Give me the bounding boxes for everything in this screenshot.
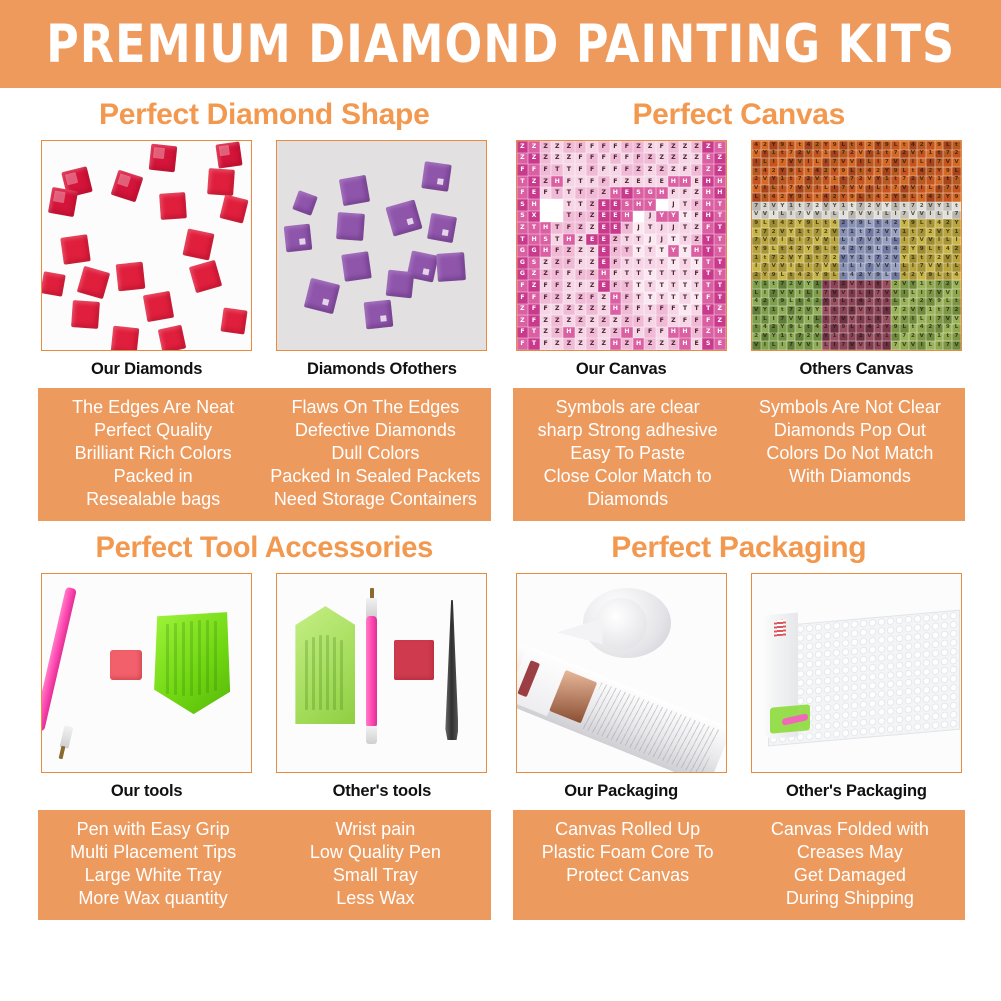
canvas-symbol-cell: I bbox=[633, 211, 645, 223]
canvas-symbol-cell: T bbox=[679, 211, 691, 223]
canvas-symbol-cell: Z bbox=[656, 153, 668, 165]
canvas-symbol-cell: 7 bbox=[874, 254, 883, 263]
caption-our-packaging: Our Packaging bbox=[564, 782, 678, 801]
canvas-symbol-cell: Y bbox=[943, 228, 952, 237]
canvas-symbol-cell: H bbox=[610, 292, 622, 304]
canvas-symbol-cell: L bbox=[778, 211, 787, 220]
canvas-symbol-cell: I bbox=[761, 289, 770, 298]
canvas-symbol-cell: 4 bbox=[804, 298, 813, 307]
feature-list-our-packaging: Canvas Rolled UpPlastic Foam Core ToProt… bbox=[517, 818, 739, 910]
canvas-symbol-cell: 2 bbox=[752, 272, 761, 281]
canvas-symbol-cell: T bbox=[714, 199, 726, 211]
canvas-symbol-cell: Y bbox=[926, 176, 935, 185]
canvas-symbol-cell: 7 bbox=[839, 306, 848, 315]
feature-line: During Shipping bbox=[741, 887, 959, 910]
canvas-symbol-cell: L bbox=[926, 341, 935, 350]
canvas-symbol-cell: V bbox=[787, 254, 796, 263]
canvas-symbol-cell: 2 bbox=[769, 228, 778, 237]
canvas-symbol-cell: T bbox=[644, 245, 656, 257]
canvas-symbol-cell: I bbox=[804, 158, 813, 167]
canvas-symbol-cell: V bbox=[952, 158, 961, 167]
canvas-symbol-cell: T bbox=[621, 222, 633, 234]
canvas-symbol-cell: I bbox=[769, 211, 778, 220]
canvas-symbol-cell: L bbox=[943, 237, 952, 246]
drill-4 bbox=[48, 187, 78, 217]
canvas-symbol-cell: T bbox=[644, 292, 656, 304]
canvas-symbol-cell: Z bbox=[575, 338, 587, 350]
canvas-symbol-cell: Z bbox=[668, 141, 680, 153]
canvas-symbol-cell: L bbox=[891, 141, 900, 150]
canvas-symbol-cell: Z bbox=[714, 304, 726, 316]
canvas-symbol-cell: V bbox=[822, 263, 831, 272]
canvas-symbol-cell: Z bbox=[598, 187, 610, 199]
canvas-symbol-cell: 2 bbox=[778, 193, 787, 202]
canvas-symbol-cell: F bbox=[702, 292, 714, 304]
canvas-symbol-cell: 2 bbox=[787, 280, 796, 289]
canvas-symbol-cell: T bbox=[714, 234, 726, 246]
canvas-symbol-cell: F bbox=[586, 153, 598, 165]
canvas-symbol-cell: H bbox=[551, 176, 563, 188]
canvas-symbol-cell: F bbox=[586, 141, 598, 153]
canvas-symbol-cell: V bbox=[752, 185, 761, 194]
canvas-symbol-cell: F bbox=[633, 304, 645, 316]
canvas-symbol-cell: 2 bbox=[874, 167, 883, 176]
wax-square-icon bbox=[110, 650, 142, 680]
canvas-symbol-cell: I bbox=[856, 263, 865, 272]
image-cell-other-tools: Other's tools bbox=[273, 573, 490, 801]
canvas-symbol-cell: t bbox=[935, 306, 944, 315]
canvas-symbol-cell: 9 bbox=[761, 245, 770, 254]
photo-other-diamonds bbox=[276, 140, 487, 351]
canvas-symbol-cell: 7 bbox=[882, 280, 891, 289]
canvas-symbol-cell: 4 bbox=[865, 324, 874, 333]
canvas-symbol-cell: Z bbox=[563, 245, 575, 257]
canvas-symbol-cell: 9 bbox=[787, 324, 796, 333]
canvas-symbol-cell: I bbox=[926, 315, 935, 324]
canvas-symbol-cell: Z bbox=[575, 315, 587, 327]
canvas-symbol-cell: Y bbox=[839, 193, 848, 202]
canvas-symbol-cell: I bbox=[804, 263, 813, 272]
canvas-symbol-cell: 4 bbox=[917, 167, 926, 176]
canvas-symbol-cell: Z bbox=[714, 315, 726, 327]
canvas-symbol-cell: L bbox=[804, 289, 813, 298]
canvas-symbol-cell: F bbox=[517, 327, 529, 339]
canvas-symbol-cell: Y bbox=[795, 219, 804, 228]
canvas-symbol-cell: V bbox=[891, 315, 900, 324]
canvas-symbol-cell: 2 bbox=[822, 228, 831, 237]
canvas-symbol-cell: Z bbox=[644, 153, 656, 165]
canvas-symbol-cell: L bbox=[917, 315, 926, 324]
canvas-symbol-cell: V bbox=[856, 211, 865, 220]
canvas-symbol-cell: 1 bbox=[769, 306, 778, 315]
canvas-symbol-cell: 1 bbox=[787, 202, 796, 211]
canvas-symbol-cell: 7 bbox=[752, 237, 761, 246]
drill-0 bbox=[149, 144, 178, 173]
canvas-symbol-cell: Z bbox=[528, 153, 540, 165]
canvas-symbol-cell: Y bbox=[874, 298, 883, 307]
canvas-symbol-cell: V bbox=[752, 341, 761, 350]
canvas-symbol-cell: V bbox=[778, 263, 787, 272]
canvas-symbol-cell: Z bbox=[644, 338, 656, 350]
canvas-symbol-cell: I bbox=[813, 341, 822, 350]
canvas-symbol-cell: t bbox=[952, 141, 961, 150]
canvas-symbol-cell: Y bbox=[952, 254, 961, 263]
canvas-symbol-cell: 9 bbox=[830, 298, 839, 307]
canvas-symbol-cell: Z bbox=[598, 304, 610, 316]
canvas-symbol-cell: F bbox=[575, 211, 587, 223]
pen-tip-icon bbox=[366, 598, 377, 618]
pen-cap-icon bbox=[366, 726, 377, 744]
feature-line: Large White Tray bbox=[44, 864, 262, 887]
canvas-symbol-cell: 9 bbox=[830, 141, 839, 150]
canvas-symbol-cell: 2 bbox=[926, 324, 935, 333]
canvas-symbol-cell: V bbox=[856, 185, 865, 194]
canvas-symbol-cell: 2 bbox=[830, 193, 839, 202]
canvas-symbol-cell: 2 bbox=[795, 150, 804, 159]
feature-list-our-canvas: Symbols are clearsharp Strong adhesiveEa… bbox=[517, 396, 739, 511]
canvas-symbol-cell: 7 bbox=[891, 306, 900, 315]
canvas-symbol-cell: 2 bbox=[900, 150, 909, 159]
canvas-symbol-cell: 2 bbox=[926, 167, 935, 176]
canvas-symbol-cell: T bbox=[679, 280, 691, 292]
canvas-symbol-cell: F bbox=[702, 222, 714, 234]
canvas-symbol-cell: t bbox=[874, 219, 883, 228]
canvas-symbol-cell: L bbox=[813, 315, 822, 324]
canvas-symbol-cell: 4 bbox=[769, 193, 778, 202]
caption-others-canvas: Others Canvas bbox=[799, 360, 913, 379]
canvas-symbol-cell: H bbox=[610, 304, 622, 316]
canvas-symbol-cell: E bbox=[598, 280, 610, 292]
canvas-symbol-cell: 7 bbox=[926, 254, 935, 263]
canvas-symbol-cell: 2 bbox=[769, 324, 778, 333]
canvas-symbol-cell: Z bbox=[528, 176, 540, 188]
canvas-symbol-cell: 7 bbox=[804, 202, 813, 211]
canvas-symbol-cell: I bbox=[935, 237, 944, 246]
drill-18 bbox=[158, 325, 186, 351]
feature-list-other-diamonds: Flaws On The EdgesDefective DiamondsDull… bbox=[264, 396, 486, 511]
feature-line: Wrist pain bbox=[266, 818, 484, 841]
canvas-symbol-cell: I bbox=[900, 237, 909, 246]
canvas-symbol-cell: I bbox=[787, 263, 796, 272]
section-diamond-shape: Perfect Diamond Shape Our Diamonds Diamo… bbox=[0, 88, 501, 521]
canvas-symbol-cell: F bbox=[540, 338, 552, 350]
canvas-symbol-cell: F bbox=[575, 164, 587, 176]
canvas-symbol-cell: t bbox=[900, 141, 909, 150]
canvas-symbol-cell: V bbox=[926, 202, 935, 211]
canvas-symbol-cell: V bbox=[865, 176, 874, 185]
canvas-symbol-cell: Z bbox=[586, 338, 598, 350]
canvas-symbol-cell: E bbox=[598, 234, 610, 246]
canvas-symbol-cell: 1 bbox=[909, 254, 918, 263]
canvas-symbol-cell: Z bbox=[691, 153, 703, 165]
canvas-symbol-cell: 7 bbox=[795, 176, 804, 185]
canvas-symbol-cell: 2 bbox=[761, 298, 770, 307]
canvas-symbol-cell: F bbox=[610, 280, 622, 292]
canvas-symbol-cell: Y bbox=[882, 167, 891, 176]
canvas-symbol-cell: Z bbox=[517, 141, 529, 153]
canvas-symbol-cell: 4 bbox=[909, 141, 918, 150]
canvas-symbol-cell: 4 bbox=[856, 141, 865, 150]
canvas-symbol-cell: t bbox=[769, 280, 778, 289]
drill-4 bbox=[284, 224, 313, 253]
canvas-symbol-cell: 2 bbox=[935, 193, 944, 202]
canvas-symbol-cell: I bbox=[778, 237, 787, 246]
canvas-symbol-cell: t bbox=[882, 245, 891, 254]
canvas-symbol-cell: V bbox=[926, 237, 935, 246]
canvas-symbol-cell: 7 bbox=[839, 150, 848, 159]
canvas-symbol-cell: F bbox=[551, 269, 563, 281]
section-title-tool-accessories: Perfect Tool Accessories bbox=[45, 533, 484, 563]
feature-line: Close Color Match to bbox=[519, 465, 737, 488]
canvas-symbol-cell: L bbox=[882, 272, 891, 281]
canvas-symbol-cell: Y bbox=[795, 254, 804, 263]
canvas-symbol-cell: Z bbox=[679, 153, 691, 165]
canvas-symbol-cell: L bbox=[874, 185, 883, 194]
canvas-symbol-cell: 1 bbox=[900, 228, 909, 237]
canvas-symbol-cell: V bbox=[900, 158, 909, 167]
canvas-symbol-cell: 9 bbox=[882, 298, 891, 307]
canvas-symbol-cell: 2 bbox=[813, 298, 822, 307]
canvas-symbol-cell: V bbox=[882, 263, 891, 272]
photo-other-packaging bbox=[751, 573, 962, 773]
canvas-symbol-cell: F bbox=[563, 257, 575, 269]
canvas-symbol-cell: Y bbox=[865, 306, 874, 315]
feature-line: Symbols Are Not Clear bbox=[741, 396, 959, 419]
canvas-symbol-cell: V bbox=[769, 202, 778, 211]
canvas-symbol-cell: F bbox=[644, 315, 656, 327]
canvas-symbol-cell: L bbox=[917, 158, 926, 167]
canvas-symbol-cell: 2 bbox=[952, 306, 961, 315]
drill-1 bbox=[216, 141, 243, 168]
feature-line: Pen with Easy Grip bbox=[44, 818, 262, 841]
canvas-symbol-cell: I bbox=[822, 211, 831, 220]
canvas-symbol-cell: Z bbox=[551, 327, 563, 339]
canvas-symbol-cell: I bbox=[752, 315, 761, 324]
canvas-symbol-cell: F bbox=[691, 164, 703, 176]
canvas-symbol-cell: 2 bbox=[856, 272, 865, 281]
canvas-symbol-cell: I bbox=[874, 211, 883, 220]
canvas-symbol-cell: T bbox=[575, 187, 587, 199]
canvas-symbol-cell: L bbox=[822, 185, 831, 194]
canvas-symbol-cell: 7 bbox=[804, 237, 813, 246]
canvas-symbol-cell: Z bbox=[540, 153, 552, 165]
canvas-symbol-cell: 9 bbox=[882, 141, 891, 150]
canvas-symbol-cell: L bbox=[761, 315, 770, 324]
canvas-symbol-cell: 2 bbox=[752, 176, 761, 185]
canvas-symbol-cell: 2 bbox=[909, 272, 918, 281]
canvas-symbol-cell: V bbox=[813, 176, 822, 185]
canvas-symbol-cell: V bbox=[804, 306, 813, 315]
canvas-symbol-cell: F bbox=[610, 176, 622, 188]
canvas-symbol-cell: Z bbox=[517, 222, 529, 234]
canvas-symbol-cell: V bbox=[900, 185, 909, 194]
canvas-symbol-cell: H bbox=[540, 245, 552, 257]
canvas-symbol-cell: Y bbox=[856, 280, 865, 289]
feature-line: Colors Do Not Match bbox=[741, 442, 959, 465]
feature-list-our-diamonds: The Edges Are NeatPerfect QualityBrillia… bbox=[42, 396, 264, 511]
canvas-symbol-cell: T bbox=[621, 280, 633, 292]
canvas-symbol-cell: 7 bbox=[822, 289, 831, 298]
canvas-symbol-cell: V bbox=[778, 228, 787, 237]
canvas-symbol-cell: E bbox=[714, 141, 726, 153]
canvas-symbol-cell: 9 bbox=[900, 193, 909, 202]
canvas-symbol-cell: 1 bbox=[865, 280, 874, 289]
canvas-symbol-cell: Y bbox=[882, 324, 891, 333]
canvas-symbol-cell: I bbox=[909, 263, 918, 272]
canvas-symbol-cell: I bbox=[926, 158, 935, 167]
canvas-symbol-cell: 1 bbox=[822, 150, 831, 159]
feature-line: Resealable bags bbox=[44, 488, 262, 511]
canvas-symbol-cell: I bbox=[909, 158, 918, 167]
canvas-symbol-cell: I bbox=[761, 185, 770, 194]
canvas-symbol-cell: 7 bbox=[943, 341, 952, 350]
canvas-symbol-cell: 9 bbox=[943, 324, 952, 333]
canvas-symbol-cell: F bbox=[656, 327, 668, 339]
canvas-symbol-cell: 2 bbox=[795, 306, 804, 315]
canvas-symbol-cell: V bbox=[804, 341, 813, 350]
canvas-symbol-cell: 7 bbox=[813, 263, 822, 272]
feature-line: Packed in bbox=[44, 465, 262, 488]
canvas-symbol-cell: 7 bbox=[787, 306, 796, 315]
canvas-symbol-cell: F bbox=[517, 164, 529, 176]
canvas-symbol-cell: Y bbox=[839, 228, 848, 237]
drill-10 bbox=[364, 300, 394, 330]
canvas-symbol-cell: t bbox=[778, 245, 787, 254]
canvas-symbol-cell: 2 bbox=[761, 141, 770, 150]
canvas-symbol-cell: I bbox=[952, 237, 961, 246]
canvas-symbol-cell: S bbox=[517, 199, 529, 211]
canvas-symbol-cell: V bbox=[752, 150, 761, 159]
canvas-symbol-cell: t bbox=[952, 202, 961, 211]
canvas-symbol-cell: t bbox=[865, 193, 874, 202]
canvas-symbol-cell: E bbox=[691, 176, 703, 188]
canvas-symbol-cell: T bbox=[575, 176, 587, 188]
canvas-symbol-cell: V bbox=[900, 280, 909, 289]
image-row-canvas: ZZZZZFFFFFZZFZZZZEZZZZZFFFFFFZZZZZEZFFFT… bbox=[513, 140, 966, 379]
canvas-symbol-cell: T bbox=[644, 222, 656, 234]
feature-line: Diamonds Pop Out bbox=[741, 419, 959, 442]
canvas-symbol-cell: F bbox=[610, 245, 622, 257]
canvas-symbol-cell: T bbox=[633, 292, 645, 304]
canvas-symbol-cell: V bbox=[769, 237, 778, 246]
canvas-symbol-cell: T bbox=[679, 245, 691, 257]
canvas-symbol-cell: H bbox=[702, 176, 714, 188]
canvas-symbol-cell: T bbox=[714, 257, 726, 269]
canvas-symbol-cell: Y bbox=[926, 141, 935, 150]
canvas-symbol-cell: Y bbox=[752, 280, 761, 289]
canvas-symbol-cell: 2 bbox=[813, 141, 822, 150]
drill-9 bbox=[183, 228, 215, 260]
canvas-symbol-cell: 7 bbox=[865, 263, 874, 272]
canvas-symbol-cell: V bbox=[761, 211, 770, 220]
canvas-symbol-cell: 2 bbox=[822, 167, 831, 176]
canvas-symbol-cell: t bbox=[830, 245, 839, 254]
canvas-symbol-cell: Y bbox=[769, 176, 778, 185]
canvas-symbol-cell: J bbox=[644, 211, 656, 223]
canvas-symbol-cell: V bbox=[813, 211, 822, 220]
canvas-symbol-cell: L bbox=[839, 237, 848, 246]
canvas-symbol-cell: L bbox=[874, 245, 883, 254]
canvas-symbol-cell: F bbox=[621, 164, 633, 176]
canvas-symbol-cell: T bbox=[714, 292, 726, 304]
canvas-symbol-cell: E bbox=[598, 211, 610, 223]
feature-line: Less Wax bbox=[266, 887, 484, 910]
canvas-symbol-cell: V bbox=[795, 158, 804, 167]
canvas-symbol-cell: E bbox=[610, 222, 622, 234]
feature-box-packaging: Canvas Rolled UpPlastic Foam Core ToProt… bbox=[513, 810, 966, 920]
canvas-symbol-cell: 2 bbox=[856, 176, 865, 185]
canvas-symbol-cell: 9 bbox=[778, 141, 787, 150]
canvas-symbol-cell: T bbox=[563, 211, 575, 223]
canvas-symbol-cell: t bbox=[787, 176, 796, 185]
canvas-symbol-cell: I bbox=[752, 263, 761, 272]
canvas-symbol-cell: 4 bbox=[804, 141, 813, 150]
canvas-symbol-cell: H bbox=[633, 338, 645, 350]
canvas-symbol-cell: F bbox=[540, 292, 552, 304]
canvas-symbol-cell: E bbox=[598, 199, 610, 211]
canvas-symbol-cell: F bbox=[668, 187, 680, 199]
canvas-symbol-cell: 7 bbox=[943, 150, 952, 159]
canvas-symbol-cell: L bbox=[935, 272, 944, 281]
canvas-symbol-cell: F bbox=[528, 164, 540, 176]
canvas-symbol-cell: F bbox=[621, 153, 633, 165]
canvas-symbol-cell: I bbox=[839, 211, 848, 220]
feature-line: Diamonds bbox=[519, 488, 737, 511]
photo-others-canvas: 42Y9Lt42Y9Lt42Y9Lt42Y9LtVY1t72VY1t72VY1t… bbox=[751, 140, 962, 351]
canvas-symbol-cell: T bbox=[702, 257, 714, 269]
canvas-symbol-cell: 1 bbox=[874, 306, 883, 315]
canvas-symbol-cell: 1 bbox=[891, 202, 900, 211]
canvas-symbol-cell: E bbox=[714, 338, 726, 350]
canvas-symbol-cell: 2 bbox=[804, 272, 813, 281]
canvas-symbol-cell: 1 bbox=[943, 202, 952, 211]
canvas-symbol-cell: Y bbox=[822, 176, 831, 185]
canvas-symbol-cell: Y bbox=[856, 245, 865, 254]
canvas-symbol-cell: Y bbox=[865, 272, 874, 281]
canvas-symbol-cell: L bbox=[952, 324, 961, 333]
canvas-symbol-cell: H bbox=[702, 211, 714, 223]
canvas-symbol-cell: T bbox=[714, 280, 726, 292]
infographic-page: PREMIUM DIAMOND PAINTING KITS Perfect Di… bbox=[0, 0, 1001, 1001]
canvas-symbol-cell: 7 bbox=[909, 202, 918, 211]
canvas-symbol-cell: I bbox=[926, 211, 935, 220]
canvas-symbol-cell: 4 bbox=[848, 272, 857, 281]
canvas-symbol-cell: 7 bbox=[926, 289, 935, 298]
canvas-symbol-cell: t bbox=[769, 219, 778, 228]
canvas-symbol-cell: V bbox=[891, 289, 900, 298]
canvas-symbol-cell: Z bbox=[656, 164, 668, 176]
canvas-symbol-cell: Z bbox=[702, 164, 714, 176]
canvas-symbol-cell: Z bbox=[668, 338, 680, 350]
canvas-symbol-cell: t bbox=[935, 150, 944, 159]
canvas-symbol-cell: 7 bbox=[830, 158, 839, 167]
canvas-symbol-cell: 4 bbox=[926, 193, 935, 202]
canvas-symbol-cell: Z bbox=[517, 315, 529, 327]
canvas-symbol-cell: Y bbox=[761, 272, 770, 281]
canvas-symbol-cell: G bbox=[517, 245, 529, 257]
canvas-symbol-cell: L bbox=[856, 289, 865, 298]
canvas-symbol-cell: T bbox=[528, 338, 540, 350]
canvas-symbol-cell: Z bbox=[586, 245, 598, 257]
canvas-symbol-cell: H bbox=[563, 327, 575, 339]
canvas-symbol-cell: L bbox=[909, 289, 918, 298]
canvas-symbol-cell: t bbox=[900, 202, 909, 211]
canvas-symbol-cell: 9 bbox=[795, 193, 804, 202]
canvas-symbol-cell: 4 bbox=[795, 272, 804, 281]
canvas-symbol-cell: 9 bbox=[856, 219, 865, 228]
canvas-symbol-cell: V bbox=[787, 289, 796, 298]
canvas-symbol-cell: V bbox=[787, 158, 796, 167]
